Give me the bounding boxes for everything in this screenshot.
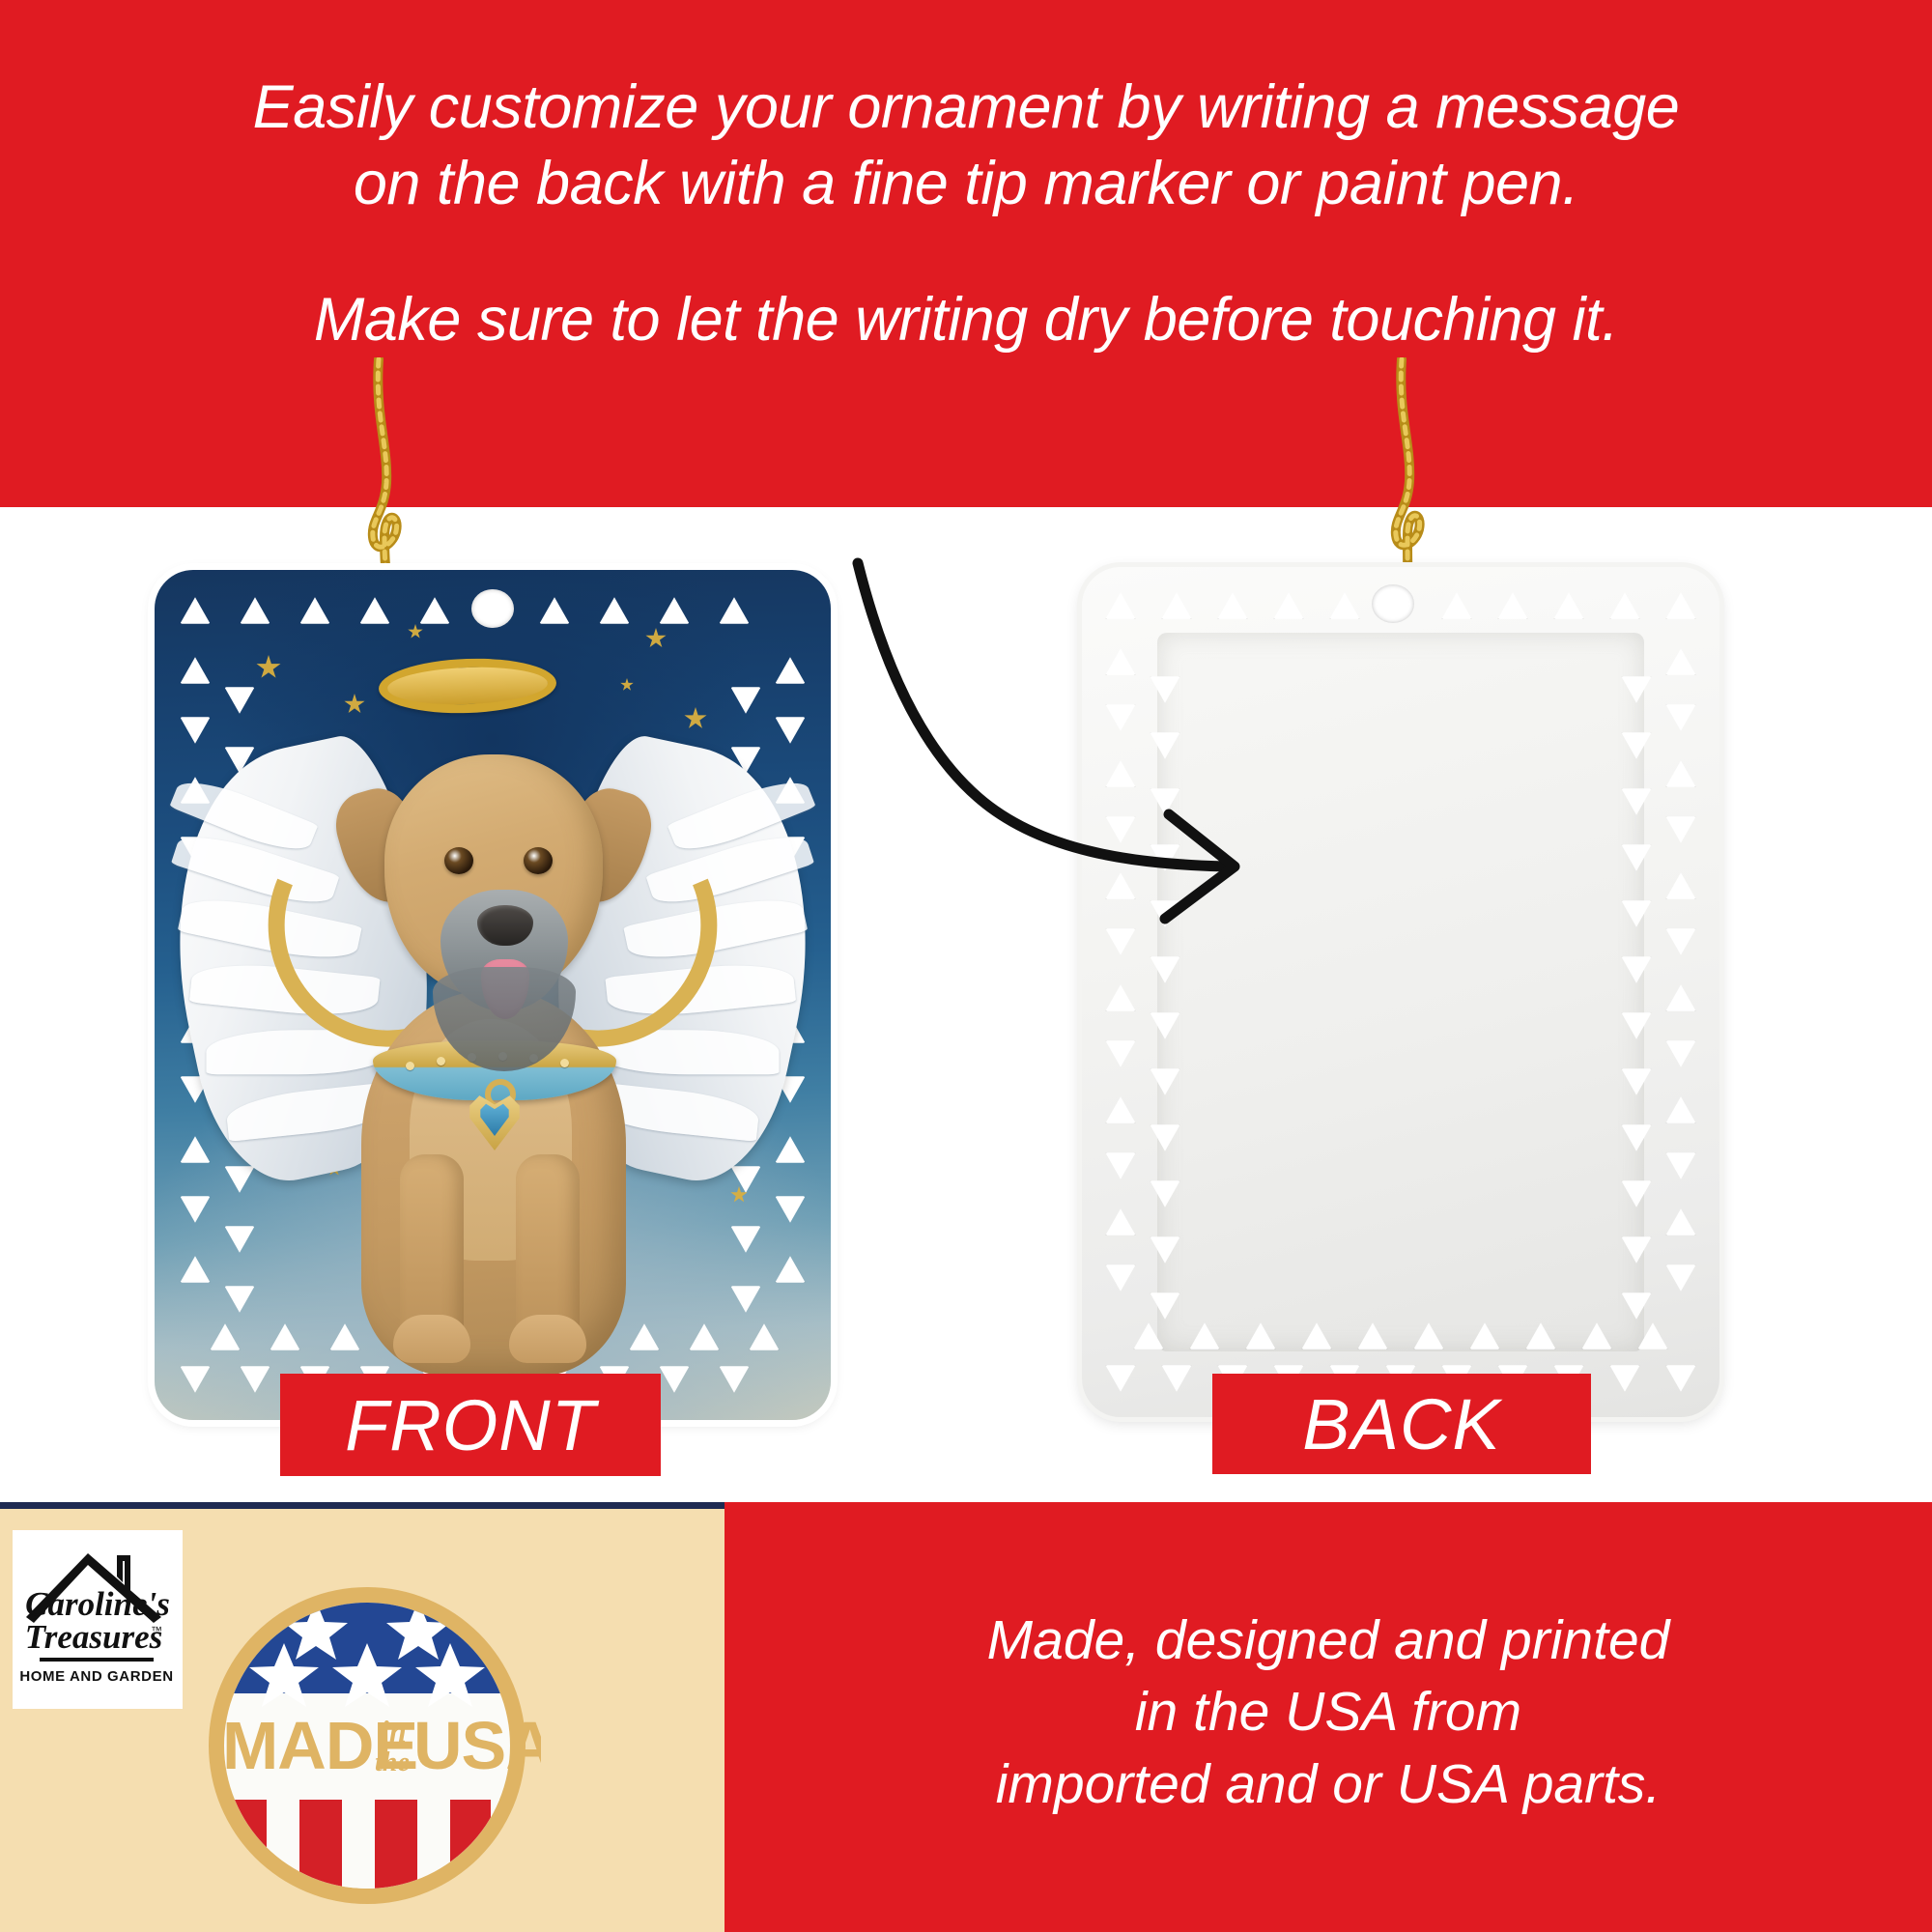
star-icon — [256, 655, 281, 680]
pierced-hole — [1608, 591, 1641, 620]
pierced-hole — [358, 596, 391, 625]
pierced-hole — [598, 596, 631, 625]
pierced-hole — [1664, 759, 1697, 788]
pierced-hole — [1104, 1207, 1137, 1236]
pierced-hole — [1104, 1364, 1137, 1393]
pierced-hole — [658, 596, 691, 625]
made-in-usa-statement: Made, designed and printed in the USA fr… — [724, 1502, 1932, 1932]
pierced-hole — [718, 596, 751, 625]
pierced-hole — [1664, 1151, 1697, 1180]
made-in-usa-badge: MADE in the USA — [193, 1572, 541, 1919]
pierced-hole — [223, 1225, 256, 1254]
pierced-hole — [729, 1165, 762, 1194]
pierced-hole — [1664, 1264, 1697, 1293]
svg-text:in: in — [381, 1714, 407, 1748]
carolines-treasures-logo: Caroline's Treasures ™ HOME AND GARDEN — [13, 1530, 183, 1709]
dog-paw-right — [509, 1315, 586, 1363]
pierced-hole — [179, 596, 212, 625]
pierced-hole — [223, 1165, 256, 1194]
pierced-hole — [239, 1365, 271, 1394]
pierced-hole — [774, 1135, 807, 1164]
star-icon — [645, 628, 667, 649]
gold-cord-icon-front — [328, 357, 444, 599]
usa-badge-icon: MADE in the USA — [193, 1572, 541, 1919]
pierced-hole — [748, 1322, 781, 1351]
pierced-hole — [179, 1365, 212, 1394]
pierced-hole — [1104, 1264, 1137, 1293]
ornament-front[interactable] — [155, 570, 831, 1420]
pierced-hole — [179, 656, 212, 685]
dog-eye-left — [444, 847, 473, 874]
product-infographic: Easily customize your ornament by writin… — [0, 0, 1932, 1932]
pierced-hole — [729, 1225, 762, 1254]
pierced-hole — [1664, 815, 1697, 844]
house-logo-icon: Caroline's Treasures ™ HOME AND GARDEN — [16, 1534, 179, 1706]
pierced-hole — [774, 1255, 807, 1284]
pierced-hole — [718, 1365, 751, 1394]
svg-text:the: the — [375, 1747, 410, 1777]
pierced-hole — [774, 1195, 807, 1224]
pierced-hole — [774, 656, 807, 685]
usa-text-line-3: imported and or USA parts. — [996, 1748, 1662, 1820]
dog-eye-right — [524, 847, 553, 874]
pierced-hole — [1664, 703, 1697, 732]
pierced-hole — [223, 1285, 256, 1314]
pierced-hole — [1104, 1151, 1137, 1180]
pierced-hole — [1608, 1364, 1641, 1393]
pierced-hole — [179, 1195, 212, 1224]
pierced-hole — [223, 686, 256, 715]
brand-panel: Caroline's Treasures ™ HOME AND GARDEN — [0, 1502, 724, 1932]
pierced-hole — [1440, 591, 1473, 620]
dog-leg-left — [400, 1154, 464, 1357]
front-label: FRONT — [280, 1374, 661, 1476]
pierced-hole — [1664, 1039, 1697, 1068]
pierced-hole — [298, 596, 331, 625]
pierced-hole — [1664, 983, 1697, 1012]
pierced-hole — [774, 716, 807, 745]
star-icon — [408, 624, 423, 639]
pierced-hole — [179, 1135, 212, 1164]
pierced-hole — [1104, 1095, 1137, 1124]
pierced-hole — [1496, 591, 1529, 620]
pierced-hole — [538, 596, 571, 625]
hand-drawn-arrow-icon — [850, 555, 1391, 1058]
pierced-hole — [269, 1322, 301, 1351]
star-icon — [730, 1186, 748, 1204]
pierced-hole — [688, 1322, 721, 1351]
pierced-hole — [729, 1285, 762, 1314]
usa-text-line-2: in the USA from — [1135, 1676, 1521, 1747]
wheaten-terrier-illustration — [317, 700, 670, 1377]
pierced-hole — [1664, 1364, 1697, 1393]
pierced-hole — [239, 596, 271, 625]
svg-text:Treasures: Treasures — [25, 1618, 163, 1656]
svg-text:HOME AND GARDEN: HOME AND GARDEN — [19, 1668, 173, 1685]
pierced-hole — [179, 1255, 212, 1284]
dog-paw-left — [393, 1315, 470, 1363]
pierced-hole — [1664, 647, 1697, 676]
pierced-hole — [179, 716, 212, 745]
pierced-hole — [1664, 1207, 1697, 1236]
pierced-hole — [1664, 927, 1697, 956]
pierced-hole — [729, 686, 762, 715]
pierced-hole — [418, 596, 451, 625]
instruction-line-2: on the back with a fine tip marker or pa… — [87, 146, 1845, 222]
pierced-hole — [1160, 1364, 1193, 1393]
product-photo-area — [0, 507, 1932, 1502]
pierced-hole — [1552, 591, 1585, 620]
back-label: BACK — [1212, 1374, 1591, 1474]
instruction-line-1: Easily customize your ornament by writin… — [87, 70, 1845, 146]
pierced-hole — [1664, 871, 1697, 900]
dog-leg-right — [516, 1154, 580, 1357]
pierced-hole — [1664, 591, 1697, 620]
svg-text:USA: USA — [413, 1708, 541, 1783]
pierced-hole — [1664, 1095, 1697, 1124]
star-icon — [620, 678, 634, 692]
instruction-banner: Easily customize your ornament by writin… — [0, 0, 1932, 507]
pierced-hole — [209, 1322, 241, 1351]
instruction-line-3: Make sure to let the writing dry before … — [87, 282, 1845, 358]
footer: Caroline's Treasures ™ HOME AND GARDEN — [0, 1502, 1932, 1932]
star-icon — [684, 707, 707, 730]
usa-text-line-1: Made, designed and printed — [987, 1605, 1670, 1676]
svg-text:™: ™ — [151, 1624, 162, 1637]
hanging-hole-front — [471, 589, 514, 628]
